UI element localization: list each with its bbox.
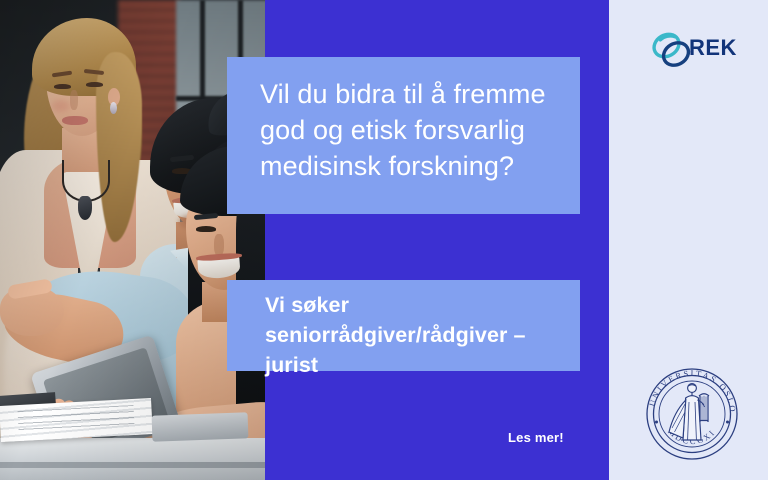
uio-seal-icon: UNIVERSITAS OSLOENSIS MDCCCXI <box>640 362 744 466</box>
apollo-figure <box>669 384 709 440</box>
rek-wordmark: REK <box>689 35 737 61</box>
uio-seal: UNIVERSITAS OSLOENSIS MDCCCXI <box>640 362 744 466</box>
job-title: Vi søker seniorrådgiver/rådgiver – juris… <box>265 290 575 380</box>
rek-logo[interactable]: REK <box>651 28 737 70</box>
read-more-link[interactable]: Les mer! <box>508 430 564 445</box>
page-title: Vil du bidra til å fremme god og etisk f… <box>260 76 560 184</box>
job-advert-banner: Vil du bidra til å fremme god og etisk f… <box>0 0 768 480</box>
